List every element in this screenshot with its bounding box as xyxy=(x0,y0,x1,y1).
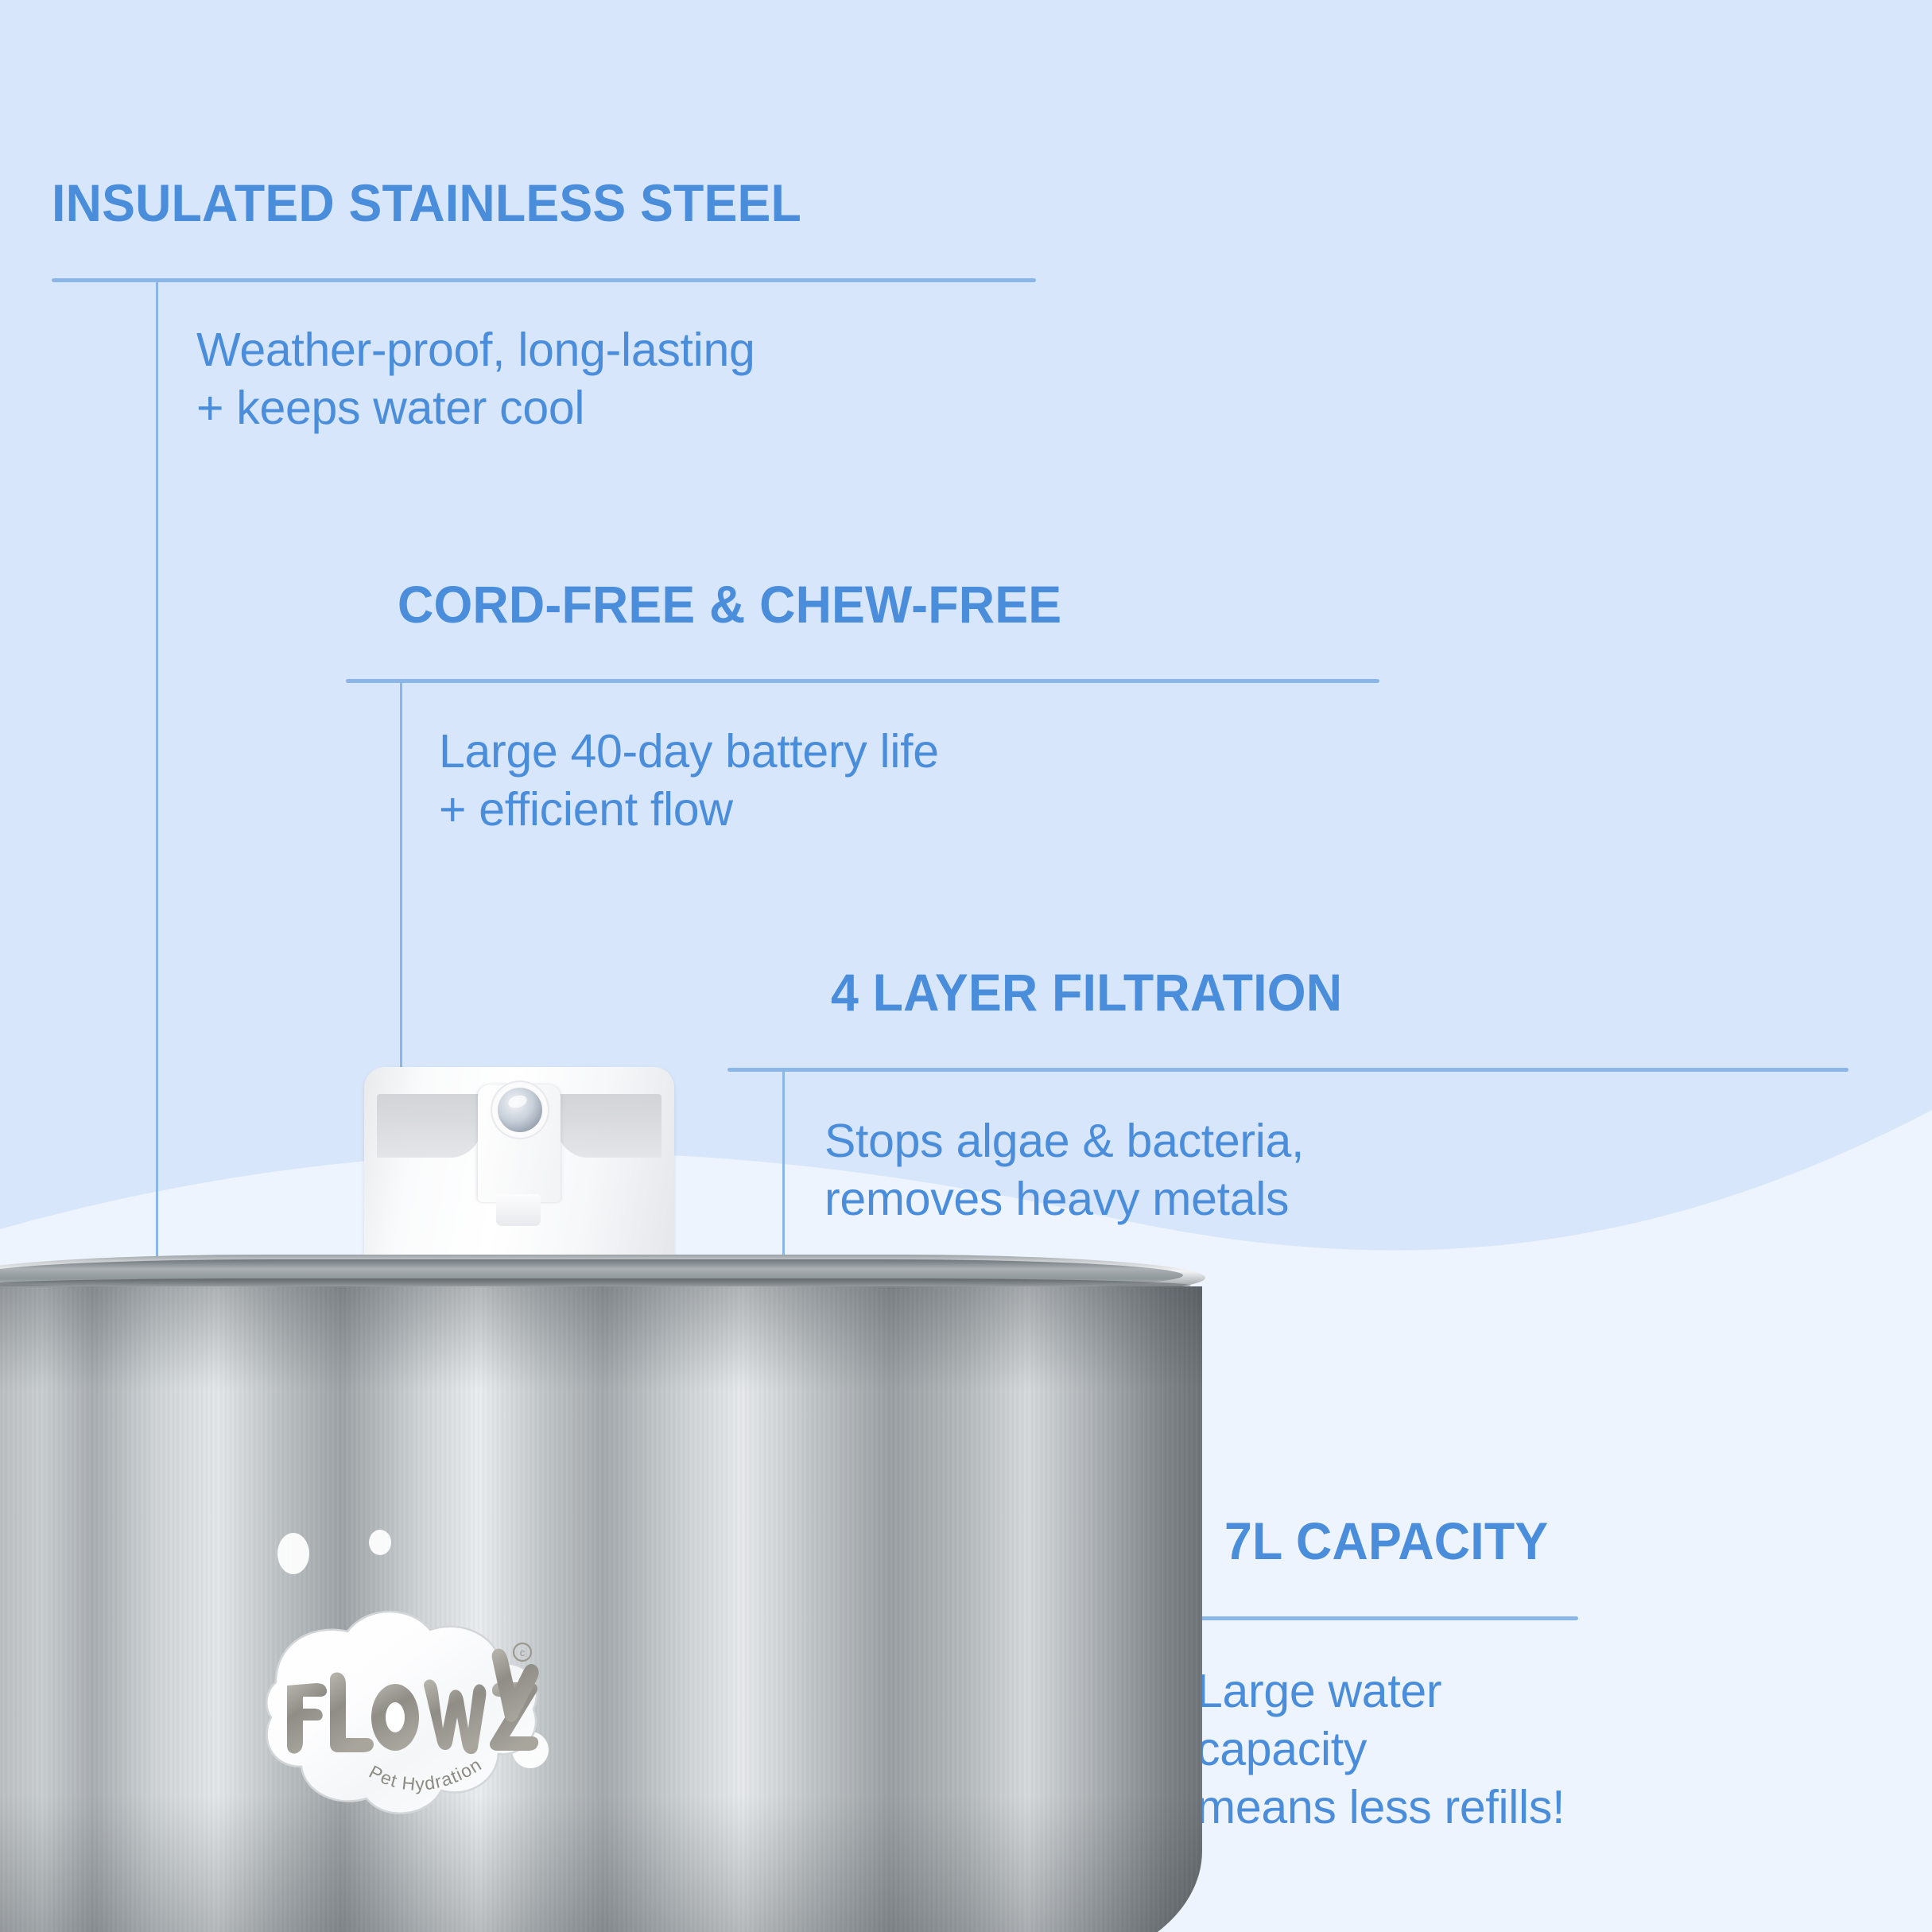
bowl-bottom-shadow xyxy=(0,1795,1202,1932)
sensor-button-icon xyxy=(498,1088,542,1132)
product-image-pet-water-fountain: c Pet Hydration xyxy=(0,1057,1224,1932)
infographic-canvas: INSULATED STAINLESS STEEL Weather-proof,… xyxy=(0,0,1932,1932)
dispenser-left-shade xyxy=(377,1094,482,1158)
water-dispenser-tower xyxy=(364,1067,674,1275)
bubble-accent xyxy=(277,1533,309,1574)
feature-callout-four-layer-filtration: 4 LAYER FILTRATION Stops algae & bacteri… xyxy=(831,966,1369,1018)
bubble-accent xyxy=(369,1530,391,1555)
feature-heading: 7L CAPACITY xyxy=(1224,1515,1548,1567)
feature-callout-seven-litre-capacity: 7L CAPACITY Large water capacity means l… xyxy=(1224,1515,1565,1567)
feature-body-text: Weather-proof, long-lasting + keeps wate… xyxy=(196,321,755,437)
bowl-body: c Pet Hydration xyxy=(0,1286,1202,1932)
feature-body-text: Large water capacity means less refills! xyxy=(1197,1662,1565,1837)
feature-divider-horizontal xyxy=(52,278,1036,282)
flowzy-logo-icon: c Pet Hydration xyxy=(230,1596,548,1835)
brand-logo-badge: c Pet Hydration xyxy=(230,1596,548,1835)
feature-heading: INSULATED STAINLESS STEEL xyxy=(52,177,801,229)
feature-callout-insulated-stainless-steel: INSULATED STAINLESS STEEL Weather-proof,… xyxy=(52,177,841,229)
dispenser-right-shade xyxy=(557,1094,661,1158)
svg-text:c: c xyxy=(520,1647,526,1658)
feature-body-text: Large 40-day battery life + efficient fl… xyxy=(439,723,939,839)
feature-divider-horizontal xyxy=(346,679,1379,683)
stainless-steel-bowl: c Pet Hydration xyxy=(0,1255,1224,1932)
bowl-top-shadow xyxy=(0,1286,1202,1390)
feature-heading: CORD-FREE & CHEW-FREE xyxy=(398,578,1061,630)
dispenser-nozzle xyxy=(496,1194,541,1226)
feature-callout-cord-free-chew-free: CORD-FREE & CHEW-FREE Large 40-day batte… xyxy=(398,578,1096,630)
feature-heading: 4 LAYER FILTRATION xyxy=(831,966,1342,1018)
